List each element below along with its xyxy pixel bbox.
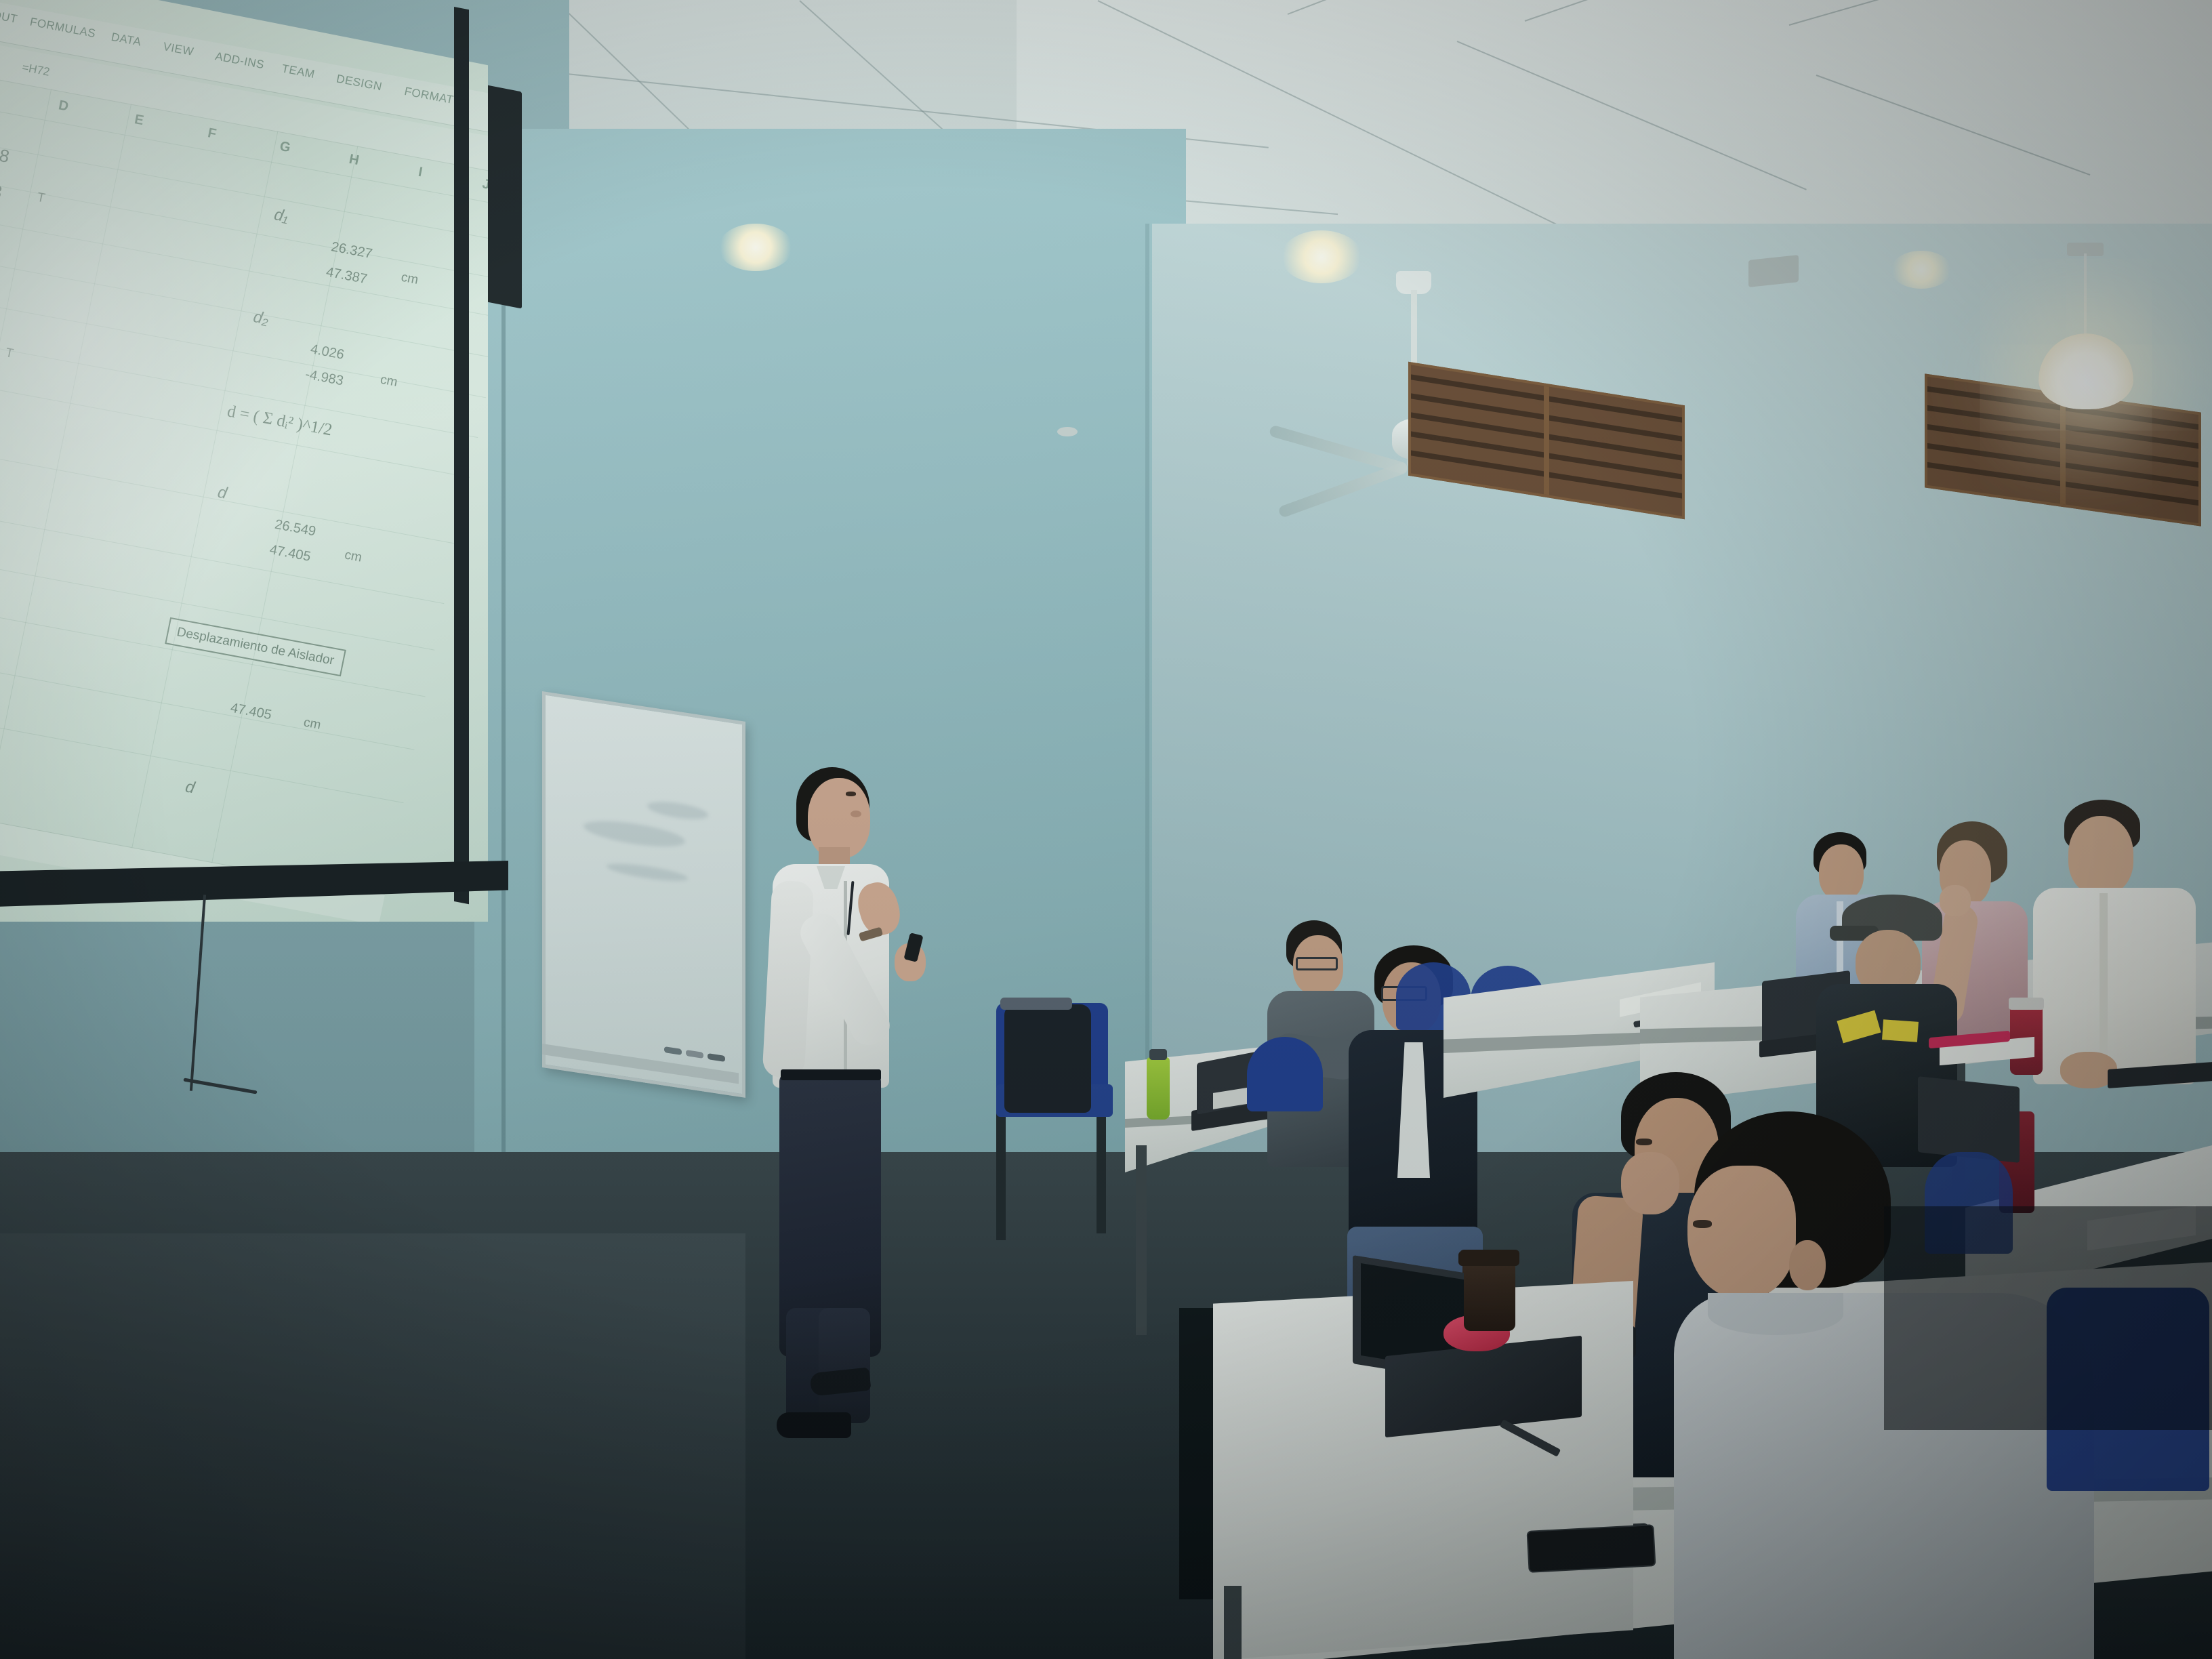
coffee-cup-icon[interactable]: [1464, 1256, 1515, 1331]
under-desk-shadow: [1884, 1206, 2212, 1430]
desk-leg: [1136, 1145, 1147, 1335]
column-header-f[interactable]: F: [206, 125, 218, 142]
a6-jacket-marking: [1882, 1019, 1919, 1042]
a8-ear: [1789, 1240, 1826, 1290]
presenter-mouth: [851, 811, 861, 817]
a5-guayabera: [2033, 888, 2196, 1084]
cell-d1-value-1[interactable]: 26.327: [330, 239, 374, 262]
cell-label-d2: d₂: [251, 308, 270, 329]
a7-eye: [1636, 1139, 1652, 1145]
classroom-scene: INICIO PAGE LAYOUT FORMULAS DATA VIEW AD…: [0, 0, 2212, 1659]
bottle-cap: [1149, 1049, 1167, 1060]
downlight-icon: [718, 224, 793, 271]
chair-backrest[interactable]: [1247, 1037, 1323, 1111]
a5-shirt-placket: [2100, 893, 2108, 1056]
a8-eye: [1693, 1220, 1712, 1228]
tumbler-lid: [2009, 998, 2044, 1010]
whiteboard: [542, 691, 745, 1098]
presenter-belt: [781, 1069, 881, 1080]
laptop-lid[interactable]: [1918, 1076, 2020, 1163]
presenter-eye: [846, 792, 856, 796]
cell-f1-value-1[interactable]: 17.868: [0, 137, 12, 167]
column-header-e[interactable]: E: [133, 112, 145, 129]
result-right-label: d: [184, 777, 197, 798]
cell-f1-value-2[interactable]: 27.953: [0, 173, 4, 203]
downlight-icon: [1891, 251, 1952, 289]
smoke-detector-icon: [1057, 427, 1078, 436]
cell-label-d1: d₁: [272, 205, 290, 226]
ceiling-speaker-icon: [1748, 255, 1799, 287]
wall-corner-seam: [1145, 224, 1149, 1186]
cell-d-value-2[interactable]: 47.405: [268, 542, 312, 565]
cell-d1-value-2[interactable]: 47.387: [325, 264, 369, 287]
backpack-handle: [1000, 998, 1072, 1010]
column-header-d[interactable]: D: [57, 98, 70, 115]
a4-hand-on-chin: [1940, 885, 1971, 916]
pendant-cord: [2084, 253, 2087, 335]
desk-leg: [1224, 1586, 1242, 1659]
column-header-g[interactable]: G: [279, 139, 292, 156]
eyeglasses-icon: [1296, 957, 1338, 970]
smartphone-icon[interactable]: [1527, 1524, 1656, 1573]
downlight-icon: [1281, 230, 1362, 283]
cell-f2-unit: T: [4, 346, 15, 362]
water-bottle-green[interactable]: [1147, 1057, 1170, 1120]
cell-d-unit: cm: [343, 548, 363, 565]
label-desplazamiento-aislador: Desplazamiento de Aislador: [165, 617, 346, 676]
screen-right-edge: [454, 7, 469, 904]
presenter-shoe-back: [777, 1412, 851, 1438]
presenter-leg-front: [819, 1308, 870, 1423]
floor-near: [0, 1233, 745, 1659]
projection-screen: INICIO PAGE LAYOUT FORMULAS DATA VIEW AD…: [0, 0, 535, 1003]
cell-d2-unit: cm: [379, 373, 398, 390]
column-header-i[interactable]: I: [417, 165, 424, 181]
result-right-unit: cm: [302, 716, 322, 733]
projection-surface: INICIO PAGE LAYOUT FORMULAS DATA VIEW AD…: [0, 0, 488, 922]
a7-hand-on-chin: [1621, 1152, 1679, 1214]
result-right-value[interactable]: 47.405: [229, 701, 273, 724]
backpack-on-chair[interactable]: [1004, 1004, 1091, 1113]
cell-d1-unit: cm: [400, 270, 419, 288]
coffee-cup-lid: [1460, 1250, 1519, 1266]
cell-d-value-1[interactable]: 26.549: [273, 517, 317, 540]
a8-collar: [1708, 1293, 1843, 1335]
